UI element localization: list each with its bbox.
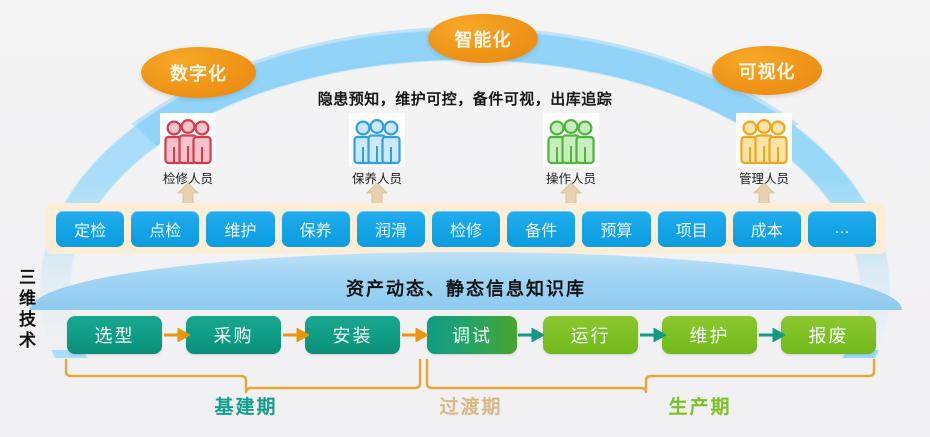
chip-label: 成本 [751, 217, 783, 241]
chip-dingjian[interactable]: 定检 [56, 211, 124, 247]
chip-baoyang[interactable]: 保养 [282, 211, 350, 247]
chip-label: 保养 [300, 217, 332, 241]
lifecycle-box-yunxing[interactable]: 运行 [543, 316, 638, 354]
three-people-icon [160, 113, 216, 167]
pill-intelligence[interactable]: 智能化 [428, 14, 538, 63]
lifecycle-box-anzhuang[interactable]: 安装 [305, 316, 400, 354]
flow-arrow-icon [759, 328, 785, 342]
lifecycle-box-baofei[interactable]: 报废 [781, 316, 876, 354]
pill-intelligence-label: 智能化 [455, 26, 512, 52]
lifecycle-label: 报废 [809, 322, 849, 348]
chip-more[interactable]: … [808, 211, 876, 247]
flow-arrow-icon [402, 328, 428, 342]
phase-text: 过渡期 [439, 397, 502, 418]
lifecycle-box-weihu[interactable]: 维护 [662, 316, 757, 354]
pill-digitalization-label: 数字化 [170, 60, 227, 86]
three-people-icon-svg [350, 117, 404, 167]
flow-arrow-icon [164, 328, 190, 342]
lifecycle-box-tiaoshi[interactable]: 调试 [427, 316, 517, 354]
knowledge-band: 资产动态、静态信息知识库 [30, 252, 902, 310]
chip-label: 润滑 [375, 217, 407, 241]
phase-text: 生产期 [668, 397, 731, 418]
chip-label: 检修 [450, 217, 482, 241]
chip-weihu[interactable]: 维护 [206, 211, 274, 247]
lifecycle-label: 安装 [333, 322, 373, 348]
chip-jianxiu[interactable]: 检修 [432, 211, 500, 247]
headline-text: 隐患预知，维护可控，备件可视，出库追踪 [0, 88, 930, 109]
lifecycle-label: 采购 [214, 322, 254, 348]
chip-runhua[interactable]: 润滑 [357, 211, 425, 247]
chip-dianjian[interactable]: 点检 [131, 211, 199, 247]
chip-label: … [834, 220, 850, 238]
diagram-canvas: 数字化 智能化 可视化 隐患预知，维护可控，备件可视，出库追踪 检修人员 [0, 0, 930, 437]
chip-yusuan[interactable]: 预算 [582, 211, 650, 247]
phase-label-guoduqi: 过渡期 [411, 392, 531, 419]
pill-visualization-label: 可视化 [739, 58, 796, 84]
phase-text: 基建期 [214, 397, 277, 418]
chip-label: 备件 [525, 217, 557, 241]
lifecycle-label: 运行 [571, 322, 611, 348]
person-group-manager: 管理人员 [728, 113, 800, 187]
lifecycle-box-xuanxing[interactable]: 选型 [67, 316, 162, 354]
lifecycle-label: 维护 [690, 322, 730, 348]
chip-xiangmu[interactable]: 项目 [658, 211, 726, 247]
flow-arrow-icon [283, 328, 309, 342]
three-people-icon-svg [161, 117, 215, 167]
chip-label: 维护 [224, 217, 256, 241]
side-vertical-label: 三维技术 [14, 268, 38, 352]
chip-label: 项目 [676, 217, 708, 241]
lifecycle-box-caigou[interactable]: 采购 [186, 316, 281, 354]
flow-arrow-icon [640, 328, 666, 342]
person-group-upkeep: 保养人员 [341, 113, 413, 187]
chip-chengben[interactable]: 成本 [733, 211, 801, 247]
chip-label: 预算 [600, 217, 632, 241]
three-people-icon [349, 113, 405, 167]
knowledge-band-label: 资产动态、静态信息知识库 [346, 275, 586, 301]
person-group-operator: 操作人员 [535, 113, 607, 187]
chip-label: 点检 [149, 217, 181, 241]
phase-label-jijianqi: 基建期 [186, 392, 306, 419]
three-people-icon [543, 113, 599, 167]
lifecycle-label: 选型 [95, 322, 135, 348]
lifecycle-label: 调试 [452, 322, 492, 348]
chip-label: 定检 [74, 217, 106, 241]
three-people-icon [736, 113, 792, 167]
three-people-icon-svg [544, 117, 598, 167]
chip-row: 定检 点检 维护 保养 润滑 检修 备件 预算 项目 成本 … [46, 203, 886, 254]
phase-label-shengchanqi: 生产期 [640, 392, 760, 419]
flow-arrow-icon [518, 328, 544, 342]
three-people-icon-svg [737, 117, 791, 167]
chip-beijian[interactable]: 备件 [507, 211, 575, 247]
person-group-maintenance: 检修人员 [152, 113, 224, 187]
